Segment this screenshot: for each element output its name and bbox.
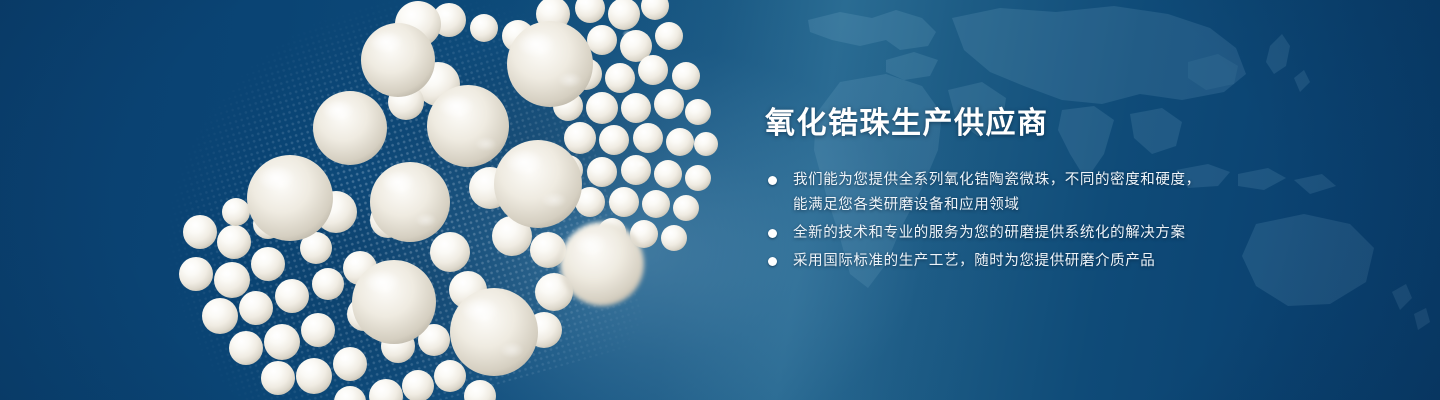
list-item: 我们能为您提供全系列氧化锆陶瓷微珠，不同的密度和硬度， 能满足您各类研磨设备和应… <box>765 168 1365 218</box>
banner-copy: 氧化锆珠生产供应商 我们能为您提供全系列氧化锆陶瓷微珠，不同的密度和硬度， 能满… <box>765 104 1365 274</box>
bullet-dot-icon <box>768 257 777 266</box>
list-item: 采用国际标准的生产工艺，随时为您提供研磨介质产品 <box>765 249 1365 274</box>
list-item-line: 能满足您各类研磨设备和应用领域 <box>793 193 1365 218</box>
page-title: 氧化锆珠生产供应商 <box>765 104 1365 144</box>
hero-banner: 氧化锆珠生产供应商 我们能为您提供全系列氧化锆陶瓷微珠，不同的密度和硬度， 能满… <box>0 0 1440 400</box>
list-item-line: 采用国际标准的生产工艺，随时为您提供研磨介质产品 <box>793 249 1365 274</box>
list-item-line: 全新的技术和专业的服务为您的研磨提供系统化的解决方案 <box>793 221 1365 246</box>
feature-list: 我们能为您提供全系列氧化锆陶瓷微珠，不同的密度和硬度， 能满足您各类研磨设备和应… <box>765 168 1365 274</box>
bullet-dot-icon <box>768 176 777 185</box>
list-item-line: 我们能为您提供全系列氧化锆陶瓷微珠，不同的密度和硬度， <box>793 168 1365 193</box>
bullet-dot-icon <box>768 229 777 238</box>
list-item: 全新的技术和专业的服务为您的研磨提供系统化的解决方案 <box>765 221 1365 246</box>
